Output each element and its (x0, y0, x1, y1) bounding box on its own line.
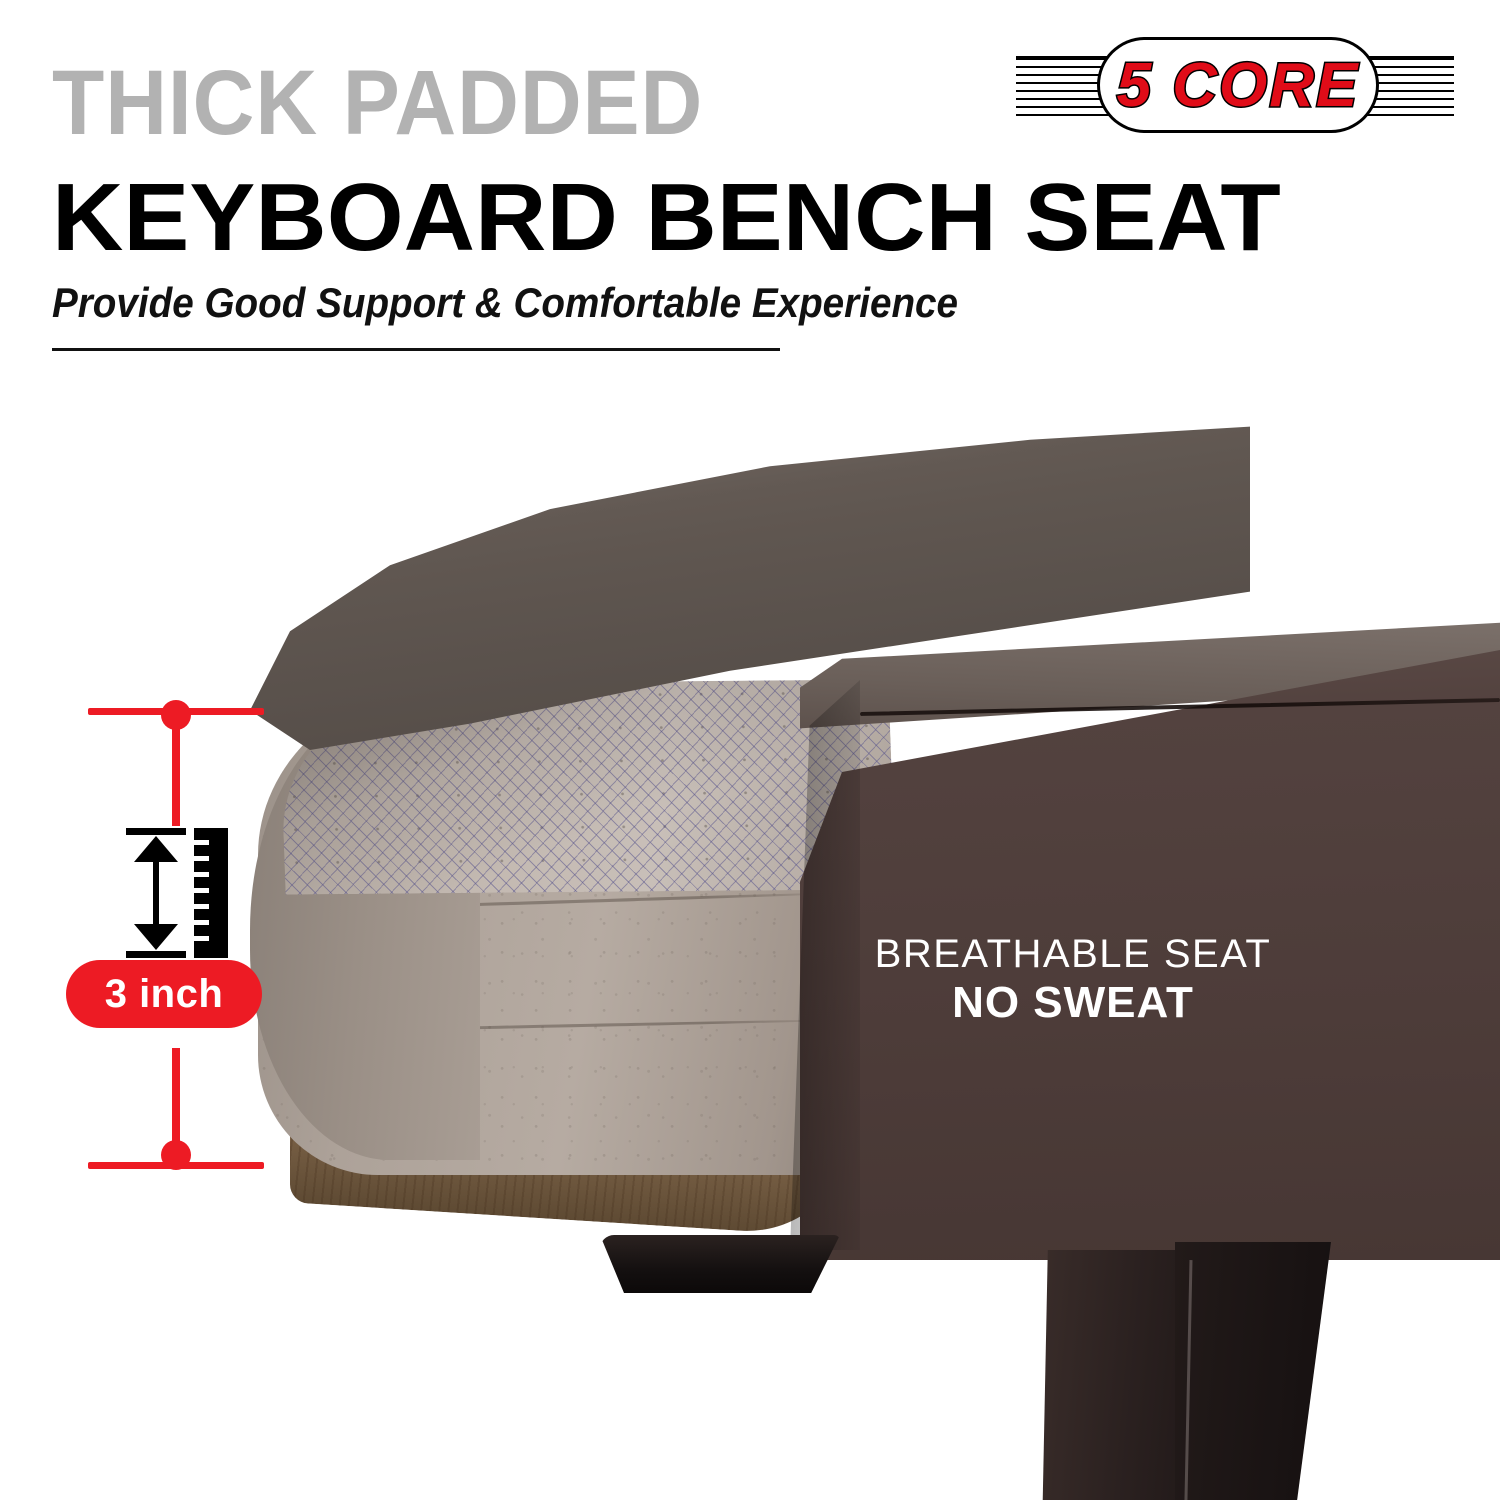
seat-caption: BREATHABLE SEAT NO SWEAT (838, 932, 1308, 1028)
caption-breathable-seat: BREATHABLE SEAT (838, 932, 1308, 976)
measure-lower-line (172, 1048, 180, 1152)
ruler-tick (194, 840, 209, 845)
ruler-tick (194, 904, 209, 909)
ruler-icon (118, 828, 228, 958)
ruler-tick (194, 856, 209, 861)
bench-leg-front (1035, 1250, 1195, 1500)
arrow-cap-top (126, 828, 186, 835)
measure-upper-line (172, 722, 180, 826)
ruler-tick (194, 920, 209, 925)
brand-logo: 5 CORE (1016, 38, 1454, 132)
headline-eyebrow: THICK PADDED (52, 57, 703, 149)
measure-bottom-bar (88, 1162, 264, 1169)
ruler-tick (194, 888, 209, 893)
ruler-tick (194, 872, 209, 877)
caption-no-sweat: NO SWEAT (838, 978, 1308, 1028)
thickness-badge-label: 3 inch (105, 972, 224, 1017)
title-divider (52, 348, 780, 351)
header: THICK PADDED KEYBOARD BENCH SEAT Provide… (0, 0, 1500, 370)
headline-subtitle: Provide Good Support & Comfortable Exper… (52, 281, 958, 325)
thickness-measurement-callout: 3 inch (88, 700, 268, 1180)
arrow-cap-bottom (126, 951, 186, 958)
bench-leg-back (1175, 1242, 1375, 1500)
bench-leg-bracket (600, 1235, 840, 1293)
page-title: KEYBOARD BENCH SEAT (52, 170, 1281, 266)
thickness-badge: 3 inch (66, 960, 262, 1028)
ruler-scale-block (194, 828, 228, 958)
ruler-tick (194, 936, 209, 941)
arrow-head-down (134, 924, 178, 950)
logo-wordmark: 5 CORE (1100, 40, 1376, 130)
